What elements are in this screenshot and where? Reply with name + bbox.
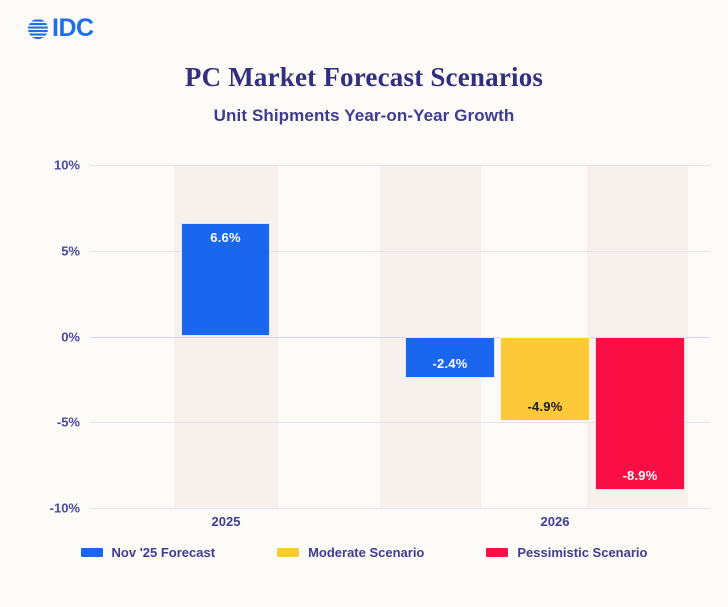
bar-2026-forecast[interactable]: -2.4% [405,337,495,378]
legend-swatch-icon [486,548,508,557]
y-axis-tick: 10% [24,158,80,173]
y-axis-tick: -5% [24,415,80,430]
bar-2026-pessimistic[interactable]: -8.9% [595,337,685,490]
gridline-10% [90,165,710,166]
y-axis-tick: 5% [24,243,80,258]
chart-canvas: 6.6%-2.4%-4.9%-8.9% 10%5%0%-5%-10% 20252… [0,0,728,607]
bar-value-label: -2.4% [406,356,494,371]
plot-area: 6.6%-2.4%-4.9%-8.9% [90,165,710,508]
y-axis-tick: 0% [24,329,80,344]
legend-label: Moderate Scenario [308,545,424,560]
x-axis-tick-2026: 2026 [541,514,570,529]
legend-item[interactable]: Pessimistic Scenario [486,545,647,560]
legend-swatch-icon [81,548,103,557]
legend-label: Pessimistic Scenario [517,545,647,560]
legend-swatch-icon [277,548,299,557]
x-axis-tick-2025: 2025 [212,514,241,529]
bar-2026-moderate[interactable]: -4.9% [500,337,590,421]
bar-value-label: -4.9% [501,399,589,414]
bar-value-label: -8.9% [596,468,684,483]
bar-value-label: 6.6% [182,230,269,245]
y-axis-tick: -10% [24,501,80,516]
legend-item[interactable]: Moderate Scenario [277,545,424,560]
legend: Nov '25 ForecastModerate ScenarioPessimi… [0,545,728,560]
legend-item[interactable]: Nov '25 Forecast [81,545,216,560]
legend-label: Nov '25 Forecast [112,545,216,560]
bar-2025-forecast[interactable]: 6.6% [181,223,270,336]
gridline--10% [90,508,710,509]
